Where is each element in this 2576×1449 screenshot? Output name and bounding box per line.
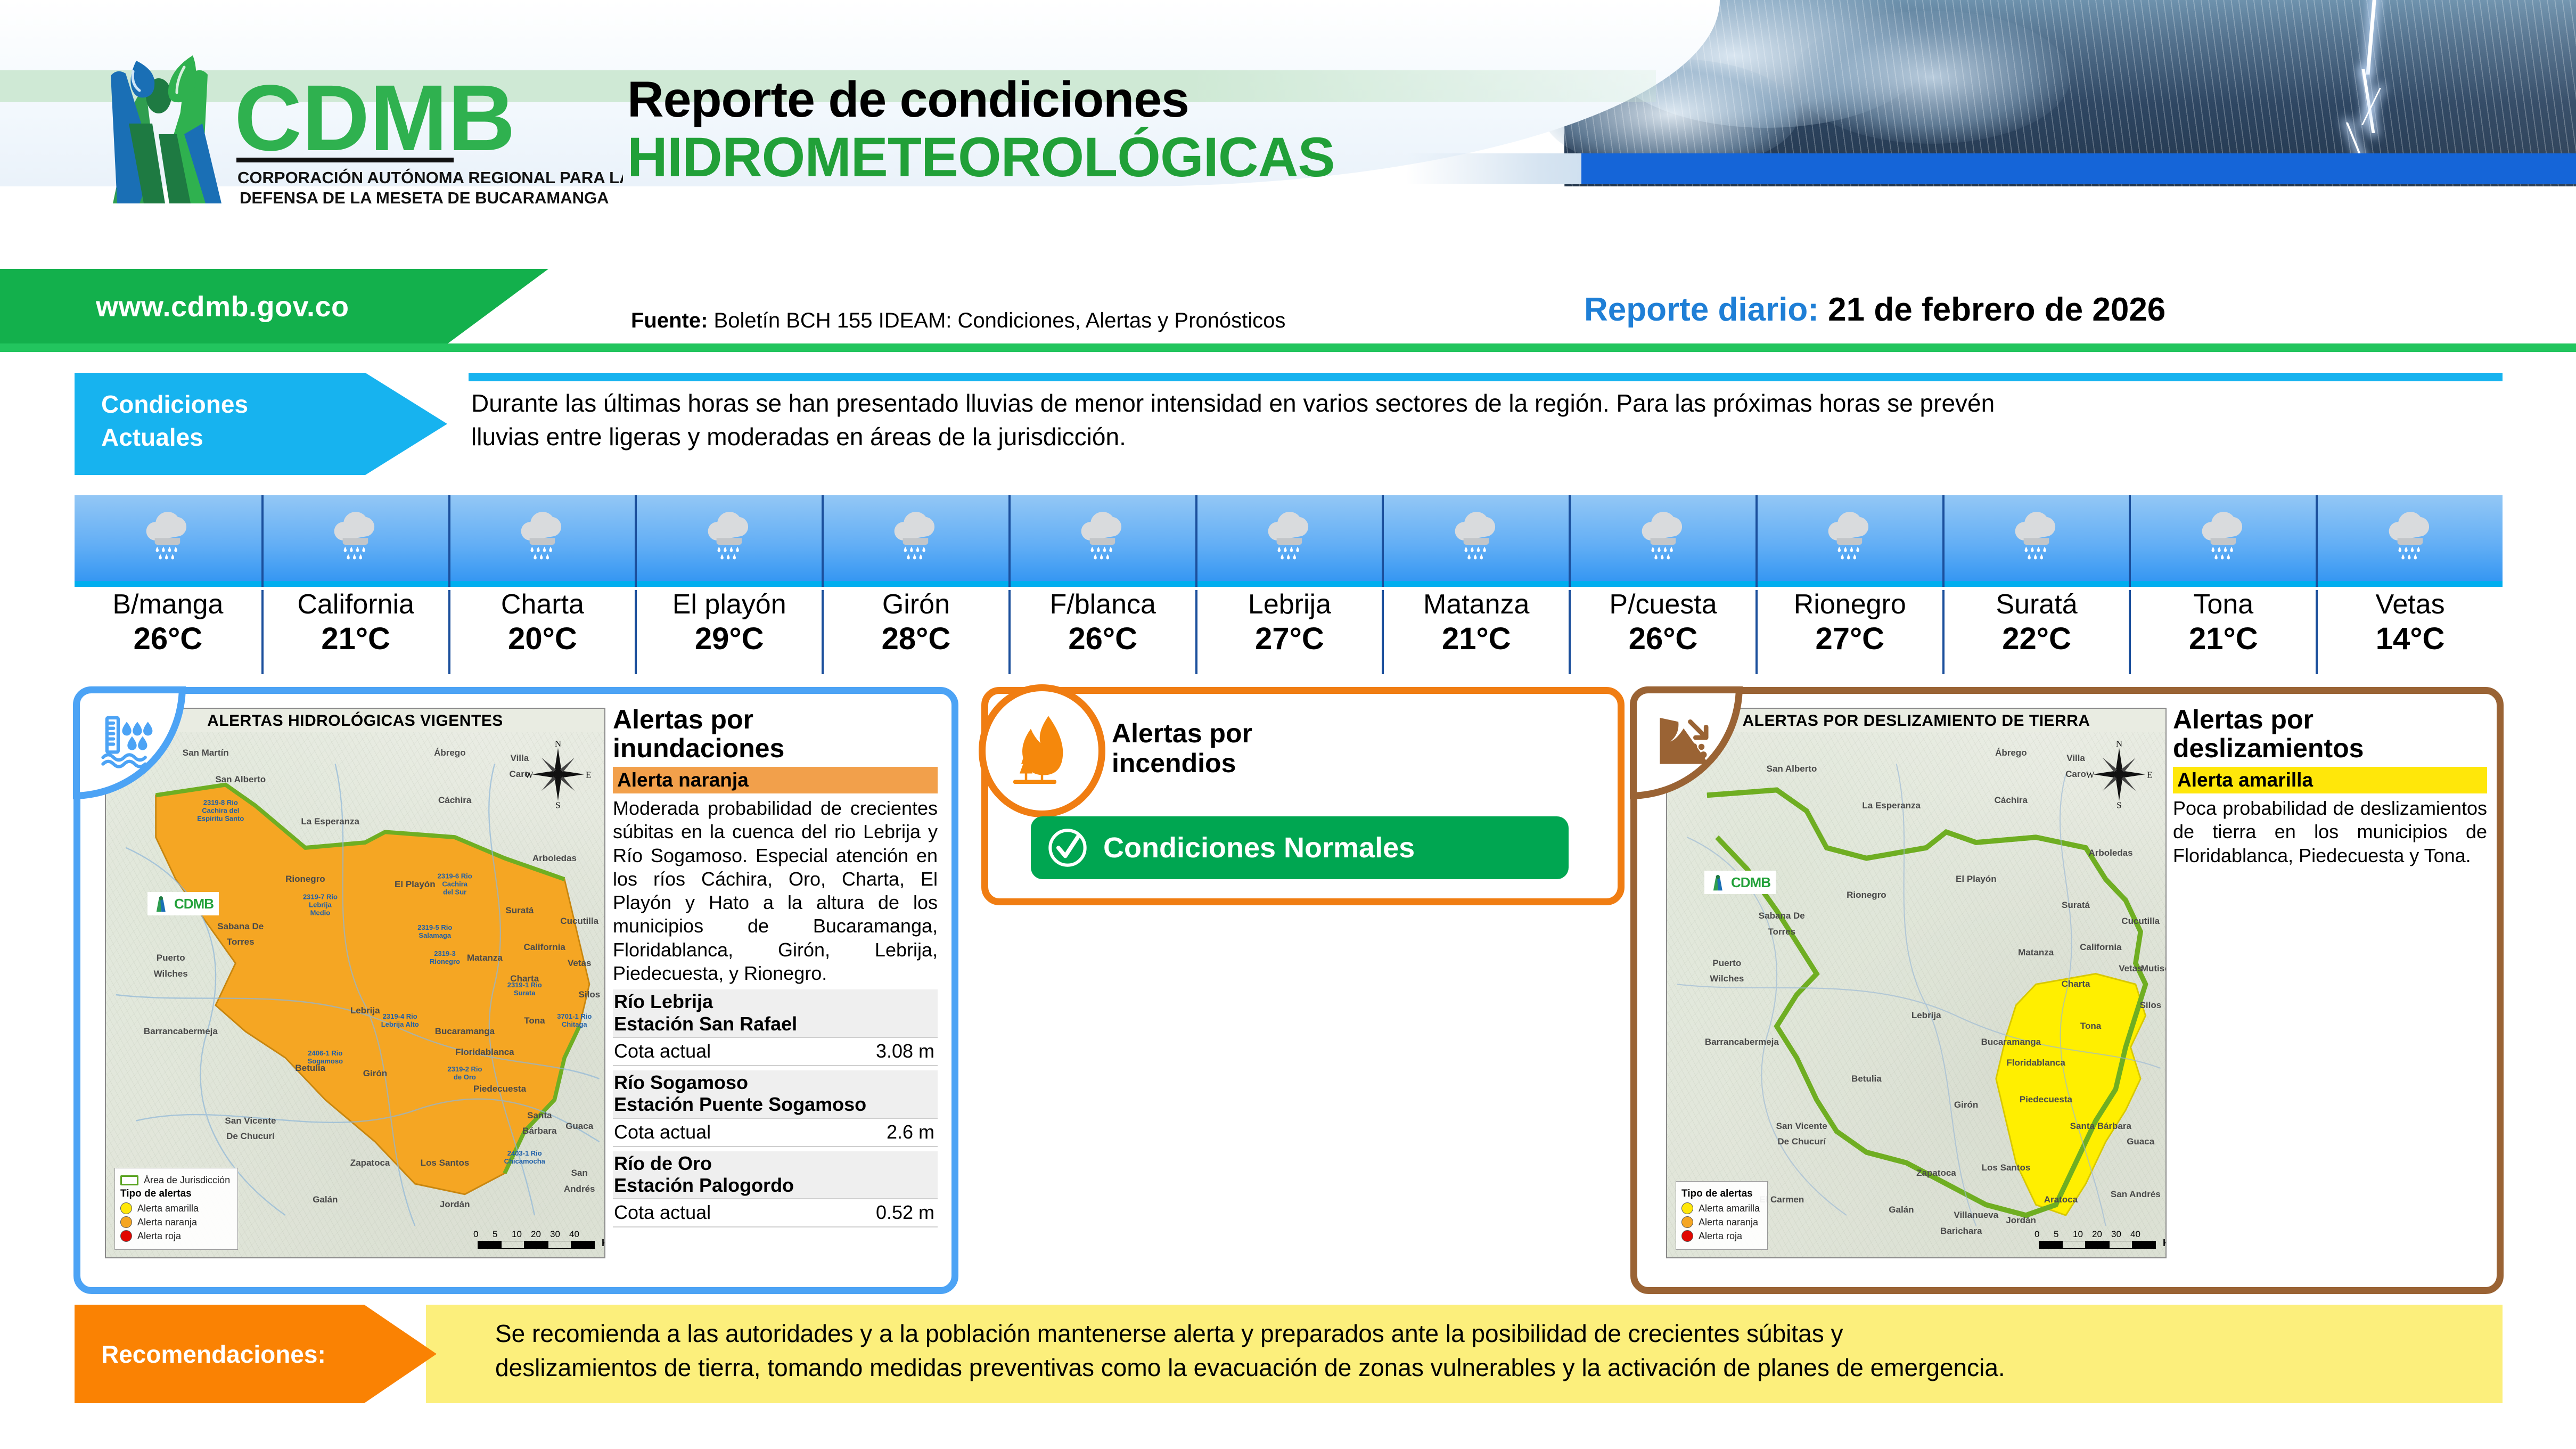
legend-item: Alerta roja xyxy=(120,1230,230,1242)
svg-text:S: S xyxy=(555,800,560,809)
weather-sky xyxy=(2316,495,2503,587)
legend-label: Alerta naranja xyxy=(1699,1217,1758,1228)
station-metric-label: Cota actual xyxy=(614,1201,711,1224)
station-row: Cota actual2.6 m xyxy=(613,1118,938,1147)
landslide-alert-chip: Alerta amarilla xyxy=(2173,767,2487,793)
weather-labels: Suratá22°C xyxy=(1942,590,2129,674)
landslide-heading-line1: Alertas por xyxy=(2173,706,2487,734)
station-metric-value: 0.52 m xyxy=(876,1201,934,1224)
map-town-label: Silos xyxy=(579,989,601,1000)
weather-sky xyxy=(1942,495,2129,587)
page-header: CDMB CORPORACIÓN AUTÓNOMA REGIONAL PARA … xyxy=(0,0,2576,269)
landslide-map-cdmb-watermark: CDMB xyxy=(1704,871,1776,894)
map-town-label: Guaca xyxy=(565,1121,593,1132)
weather-labels: Vetas14°C xyxy=(2316,590,2503,674)
jurisdiction-label: Área de Jurisdicción xyxy=(144,1175,230,1186)
rain-cloud-icon xyxy=(137,502,199,567)
map-town-label: Zapatoca xyxy=(350,1158,390,1168)
station-block: Río SogamosoEstación Puente SogamosoCota… xyxy=(613,1070,938,1147)
map-town-label: Guaca xyxy=(2127,1136,2154,1147)
weather-cell: Girón28°C xyxy=(822,495,1008,671)
weather-temp: 26°C xyxy=(1571,623,1755,656)
page-title: Reporte de condiciones HIDROMETEOROLÓGIC… xyxy=(627,75,1335,187)
alert-panels-row: ALERTAS HIDROLÓGICAS VIGENTES xyxy=(0,682,2576,1299)
landslide-heading-line2: deslizamientos xyxy=(2173,734,2487,763)
legend-item: Alerta roja xyxy=(1681,1230,1760,1242)
map-town-label: Puerto xyxy=(1712,958,1741,969)
map-town-label: Matanza xyxy=(467,953,503,963)
weather-labels: Matanza21°C xyxy=(1382,590,1569,674)
current-conditions-text: Durante las últimas horas se han present… xyxy=(471,387,2500,454)
landslide-map-title: ALERTAS POR DESLIZAMIENTO DE TIERRA xyxy=(1667,712,2165,730)
map-basin-code-label: 2319-8 RioCachira delEspiritu Santo xyxy=(197,799,244,823)
map-town-label: Girón xyxy=(363,1068,387,1079)
svg-text:E: E xyxy=(586,770,591,780)
logo-subtitle-line1: CORPORACIÓN AUTÓNOMA REGIONAL PARA LA xyxy=(237,168,623,187)
map-town-label: Tona xyxy=(524,1016,545,1026)
map-town-label: Barrancabermeja xyxy=(144,1026,218,1037)
fire-heading-line1: Alertas por xyxy=(1112,718,1252,748)
svg-text:W: W xyxy=(525,770,534,780)
weather-city: Tona xyxy=(2131,590,2316,619)
map-town-label: Mutiscua xyxy=(2141,963,2165,974)
weather-cell: Rionegro27°C xyxy=(1755,495,1942,671)
map-town-label: Betulia xyxy=(1851,1074,1882,1084)
legend-item: Alerta naranja xyxy=(120,1216,230,1228)
flood-legend-title: Tipo de alertas xyxy=(120,1188,230,1200)
legend-item: Alerta naranja xyxy=(1681,1216,1760,1228)
legend-swatch xyxy=(1681,1230,1693,1242)
map-town-label: California xyxy=(523,942,565,953)
map-town-label: Ábrego xyxy=(1995,748,2027,758)
map-town-label: Arboledas xyxy=(532,853,577,864)
weather-temp: 26°C xyxy=(1011,623,1195,656)
weather-cell: F/blanca26°C xyxy=(1008,495,1195,671)
flood-heading-line2: inundaciones xyxy=(613,734,938,763)
landslide-alerts-map[interactable]: ALERTAS POR DESLIZAMIENTO DE TIERRA xyxy=(1666,708,2167,1258)
weather-cell: El playón29°C xyxy=(635,495,822,671)
rain-cloud-icon xyxy=(1819,502,1881,564)
rain-cloud-icon xyxy=(512,502,573,564)
map-town-label: Zapatoca xyxy=(1916,1168,1956,1178)
rain-cloud-icon xyxy=(512,502,573,567)
weather-cell: Suratá22°C xyxy=(1942,495,2129,671)
station-name: Estación Puente Sogamoso xyxy=(614,1093,937,1115)
weather-labels: Tona21°C xyxy=(2129,590,2316,674)
report-date-line: Reporte diario: 21 de febrero de 2026 xyxy=(1584,291,2165,329)
map-town-label: Torres xyxy=(1768,927,1795,937)
map-town-label: Sabana De xyxy=(217,921,264,932)
weather-temp: 26°C xyxy=(75,623,261,656)
recommendations-section: Recomendaciones: Se recomienda a las aut… xyxy=(75,1305,2503,1403)
station-metric-label: Cota actual xyxy=(614,1040,711,1062)
rain-cloud-icon xyxy=(325,502,387,567)
weather-labels: Rionegro27°C xyxy=(1755,590,1942,674)
weather-temp: 27°C xyxy=(1197,623,1382,656)
weather-temp: 21°C xyxy=(1384,623,1569,656)
map-town-label: Cáchira xyxy=(438,795,471,806)
map-town-label: Lebrija xyxy=(350,1005,380,1016)
map-town-label: Wilches xyxy=(154,969,188,979)
fire-status-label: Condiciones Normales xyxy=(1103,831,1415,864)
map-town-label: Santa Bárbara xyxy=(2070,1121,2131,1132)
map-town-label: Floridablanca xyxy=(2006,1058,2065,1068)
map-town-label: Cáchira xyxy=(1995,795,2028,806)
map-town-label: Girón xyxy=(1954,1100,1978,1110)
weather-sky xyxy=(1755,495,1942,587)
map-town-label: Bárbara xyxy=(522,1126,556,1136)
recommendations-tab: Recomendaciones: xyxy=(75,1305,437,1403)
map-town-label: San Vicente xyxy=(1776,1121,1827,1132)
map-town-label: De Chucurí xyxy=(1777,1136,1826,1147)
legend-swatch xyxy=(1681,1216,1693,1228)
landslide-map-scale: 0510203040 Km xyxy=(2039,1229,2156,1249)
weather-city: B/manga xyxy=(75,590,261,619)
weather-cell: Charta20°C xyxy=(448,495,635,671)
weather-temp: 28°C xyxy=(824,623,1008,656)
legend-swatch xyxy=(1681,1202,1693,1214)
map-town-label: Floridablanca xyxy=(455,1047,514,1058)
svg-text:N: N xyxy=(2116,740,2122,749)
map-town-label: Rionegro xyxy=(285,874,325,885)
map-basin-code-label: 2319-1 RioSurata xyxy=(507,981,542,997)
weather-labels: El playón29°C xyxy=(635,590,822,674)
station-header: Río de OroEstación Palogordo xyxy=(613,1151,938,1199)
weather-sky xyxy=(1008,495,1195,587)
landslide-alerts-panel: ALERTAS POR DESLIZAMIENTO DE TIERRA xyxy=(1630,687,2504,1294)
map-basin-code-label: 2406-1 RioSogamoso xyxy=(308,1050,343,1066)
legend-label: Alerta roja xyxy=(1699,1231,1742,1242)
weather-labels: Charta20°C xyxy=(448,590,635,674)
rain-cloud-icon xyxy=(137,502,199,564)
check-circle-icon xyxy=(1045,825,1090,871)
weather-temp: 21°C xyxy=(2131,623,2316,656)
rain-cloud-icon xyxy=(1446,502,1507,564)
map-town-label: Villanueva xyxy=(1954,1210,1998,1221)
weather-sky xyxy=(261,495,448,587)
website-bar: www.cdmb.gov.co xyxy=(0,269,2576,354)
station-metric-value: 3.08 m xyxy=(876,1040,934,1062)
map-town-label: Suratá xyxy=(2062,900,2090,911)
current-conditions-line2: lluvias entre ligeras y moderadas en áre… xyxy=(471,420,2500,454)
legend-swatch xyxy=(120,1230,132,1242)
rain-cloud-icon xyxy=(699,502,760,564)
map-town-label: Barrancabermeja xyxy=(1705,1037,1779,1047)
map-basin-code-label: 2319-3Rionegro xyxy=(430,950,460,966)
station-metric-label: Cota actual xyxy=(614,1121,711,1143)
legend-label: Alerta roja xyxy=(137,1231,181,1242)
weather-sky xyxy=(822,495,1008,587)
weather-city: Lebrija xyxy=(1197,590,1382,619)
weather-city: California xyxy=(264,590,448,619)
rain-cloud-icon xyxy=(1072,502,1134,567)
fire-heading-line2: incendios xyxy=(1112,748,1252,778)
map-town-label: Los Santos xyxy=(1982,1163,2031,1173)
map-basin-code-label: 3701-1 RioChitaga xyxy=(557,1013,592,1029)
legend-item: Alerta amarilla xyxy=(120,1202,230,1214)
forest-fire-icon xyxy=(1002,710,1082,792)
weather-cell: Vetas14°C xyxy=(2316,495,2503,671)
flood-text-block: Alertas por inundaciones Alerta naranja … xyxy=(613,706,938,1227)
landslide-legend-title: Tipo de alertas xyxy=(1681,1188,1760,1200)
current-conditions-tab-line1: Condiciones xyxy=(101,388,447,421)
weather-strip: B/manga26°C California21°C Charta20°C xyxy=(75,495,2503,671)
station-name: Estación San Rafael xyxy=(614,1013,937,1035)
weather-city: P/cuesta xyxy=(1571,590,1755,619)
weather-sky xyxy=(448,495,635,587)
map-town-label: San xyxy=(571,1168,588,1178)
weather-temp: 20°C xyxy=(450,623,635,656)
weather-city: Vetas xyxy=(2318,590,2503,619)
map-basin-code-label: 2319-4 RioLebrija Alto xyxy=(381,1013,419,1029)
map-town-label: La Esperanza xyxy=(301,816,359,827)
rain-cloud-icon xyxy=(2380,502,2441,567)
fire-status-badge: Condiciones Normales xyxy=(1031,816,1569,879)
station-river: Río de Oro xyxy=(614,1152,937,1174)
report-date-label: Reporte diario: xyxy=(1584,291,1828,328)
weather-labels: Lebrija27°C xyxy=(1195,590,1382,674)
weather-city: Suratá xyxy=(1945,590,2129,619)
weather-sky xyxy=(635,495,822,587)
map-town-label: Villa xyxy=(2066,753,2085,764)
map-town-label: Rionegro xyxy=(1847,890,1886,900)
source-line: Fuente: Boletín BCH 155 IDEAM: Condicion… xyxy=(631,309,1285,333)
flood-map-compass-icon: N S W E xyxy=(523,740,593,809)
recommendations-line1: Se recomienda a las autoridades y a la p… xyxy=(495,1316,2529,1350)
rain-cloud-icon xyxy=(1446,502,1507,567)
weather-labels: P/cuesta26°C xyxy=(1569,590,1755,674)
fire-alerts-panel: Alertas por incendios Condiciones Normal… xyxy=(981,687,1625,905)
map-town-label: La Esperanza xyxy=(1862,800,1921,811)
weather-cell: Tona21°C xyxy=(2129,495,2316,671)
map-town-label: Puerto xyxy=(157,953,185,963)
website-url[interactable]: www.cdmb.gov.co xyxy=(96,290,349,323)
weather-cell: Matanza21°C xyxy=(1382,495,1569,671)
current-conditions-tab: Condiciones Actuales xyxy=(75,373,447,475)
map-town-label: Piedecuesta xyxy=(473,1084,526,1094)
rain-cloud-icon xyxy=(1632,502,1694,564)
map-town-label: Los Santos xyxy=(421,1158,470,1168)
svg-text:E: E xyxy=(2147,770,2152,780)
legend-swatch xyxy=(120,1216,132,1228)
weather-labels: F/blanca26°C xyxy=(1008,590,1195,674)
map-town-label: Tona xyxy=(2080,1021,2101,1032)
map-town-label: De Chucurí xyxy=(226,1131,275,1142)
map-town-label: San Vicente xyxy=(225,1116,276,1126)
map-town-label: Jordán xyxy=(2006,1215,2036,1226)
map-town-label: Barichara xyxy=(1940,1226,1982,1237)
flood-description: Moderada probabilidad de crecientes súbi… xyxy=(613,797,938,985)
weather-city: El playón xyxy=(637,590,822,619)
flood-alerts-map[interactable]: ALERTAS HIDROLÓGICAS VIGENTES xyxy=(105,708,605,1258)
rain-cloud-icon xyxy=(1632,502,1694,567)
jurisdiction-swatch xyxy=(120,1175,138,1185)
weather-temp: 21°C xyxy=(264,623,448,656)
map-town-label: Caro xyxy=(2065,769,2086,780)
map-town-label: Torres xyxy=(227,937,255,947)
map-basin-code-label: 2319-5 RioSalamaga xyxy=(417,924,452,940)
legend-label: Alerta naranja xyxy=(137,1217,197,1228)
current-conditions-line1: Durante las últimas horas se han present… xyxy=(471,387,2500,420)
map-town-label: Suratá xyxy=(505,905,534,916)
station-row: Cota actual0.52 m xyxy=(613,1198,938,1227)
recommendations-tab-label: Recomendaciones: xyxy=(75,1340,326,1369)
map-town-label: Piedecuesta xyxy=(2020,1094,2072,1105)
flood-map-title: ALERTAS HIDROLÓGICAS VIGENTES xyxy=(106,712,604,730)
weather-sky xyxy=(1195,495,1382,587)
weather-temp: 14°C xyxy=(2318,623,2503,656)
map-town-label: Lebrija xyxy=(1912,1010,1941,1021)
svg-text:N: N xyxy=(555,740,561,749)
rain-cloud-icon xyxy=(2006,502,2068,564)
rain-cloud-icon xyxy=(2380,502,2441,564)
map-town-label: Galán xyxy=(1889,1205,1914,1215)
map-town-label: Charta xyxy=(2062,979,2090,989)
map-town-label: California xyxy=(2080,942,2121,953)
cdmb-logo: CDMB CORPORACIÓN AUTÓNOMA REGIONAL PARA … xyxy=(80,44,623,214)
fire-badge xyxy=(979,684,1105,817)
map-town-label: Jordán xyxy=(440,1199,470,1210)
weather-cell: Lebrija27°C xyxy=(1195,495,1382,671)
map-town-label: Galán xyxy=(313,1194,338,1205)
weather-temp: 27°C xyxy=(1758,623,1942,656)
map-town-label: Matanza xyxy=(2018,947,2054,958)
legend-item: Alerta amarilla xyxy=(1681,1202,1760,1214)
map-town-label: Arboledas xyxy=(2088,848,2132,858)
map-town-label: Sabana De xyxy=(1759,911,1805,921)
map-basin-code-label: 2403-1 RioChicamocha xyxy=(504,1150,545,1166)
weather-labels: B/manga26°C xyxy=(75,590,261,674)
weather-city: Matanza xyxy=(1384,590,1569,619)
scale-tick-label: 40 xyxy=(569,1229,593,1240)
rain-cloud-icon xyxy=(2006,502,2068,567)
station-river: Río Lebrija xyxy=(614,990,937,1012)
title-line-2: HIDROMETEOROLÓGICAS xyxy=(627,128,1335,187)
weather-sky xyxy=(1382,495,1569,587)
rain-cloud-icon xyxy=(2193,502,2254,567)
map-town-label: Bucaramanga xyxy=(435,1026,495,1037)
map-town-label: Cucutilla xyxy=(2121,916,2160,927)
current-conditions-section: Condiciones Actuales Durante las últimas… xyxy=(75,373,2503,475)
map-town-label: San Alberto xyxy=(1767,764,1817,774)
flood-map-scale: 0510203040 Km xyxy=(478,1229,595,1249)
map-town-label: Aratoca xyxy=(2044,1194,2078,1205)
flood-heading-line1: Alertas por xyxy=(613,706,938,734)
flood-alerts-panel: ALERTAS HIDROLÓGICAS VIGENTES xyxy=(73,687,958,1294)
scale-tick-label: 40 xyxy=(2130,1229,2154,1240)
station-name: Estación Palogordo xyxy=(614,1174,937,1196)
map-town-label: Andrés xyxy=(564,1184,595,1194)
map-town-label: Bucaramanga xyxy=(1981,1037,2041,1047)
flood-map-cdmb-watermark: CDMB xyxy=(147,892,219,915)
station-header: Río LebrijaEstación San Rafael xyxy=(613,989,938,1037)
recommendations-line2: deslizamientos de tierra, tomando medida… xyxy=(495,1350,2529,1385)
landslide-map-compass-icon: N S W E xyxy=(2085,740,2154,809)
fire-heading: Alertas por incendios xyxy=(1112,718,1252,778)
rain-cloud-icon xyxy=(325,502,387,564)
map-basin-code-label: 2319-6 RioCachiradel Sur xyxy=(438,873,472,897)
current-conditions-tab-line2: Actuales xyxy=(101,421,447,454)
report-date-value: 21 de febrero de 2026 xyxy=(1828,291,2165,328)
weather-cell: P/cuesta26°C xyxy=(1569,495,1755,671)
weather-temp: 22°C xyxy=(1945,623,2129,656)
station-river: Río Sogamoso xyxy=(614,1071,937,1093)
weather-city: F/blanca xyxy=(1011,590,1195,619)
logo-subtitle-line2: DEFENSA DE LA MESETA DE BUCARAMANGA xyxy=(240,189,609,207)
landslide-text-block: Alertas por deslizamientos Alerta amaril… xyxy=(2173,706,2487,867)
rain-cloud-icon xyxy=(1259,502,1320,567)
weather-city: Girón xyxy=(824,590,1008,619)
source-label: Fuente: xyxy=(631,309,708,332)
map-town-label: San Alberto xyxy=(215,774,266,785)
rain-cloud-icon xyxy=(1819,502,1881,567)
map-town-label: Santa xyxy=(527,1110,552,1121)
station-header: Río SogamosoEstación Puente Sogamoso xyxy=(613,1070,938,1118)
weather-cell: California21°C xyxy=(261,495,448,671)
map-town-label: Vetas xyxy=(2119,963,2142,974)
legend-swatch xyxy=(120,1202,132,1214)
map-town-label: Cucutilla xyxy=(560,916,598,927)
rain-cloud-icon xyxy=(2193,502,2254,564)
source-text: Boletín BCH 155 IDEAM: Condiciones, Aler… xyxy=(708,309,1285,332)
rain-cloud-icon xyxy=(885,502,947,567)
map-town-label: Vetas xyxy=(568,958,591,969)
map-town-label: San Andrés xyxy=(2111,1189,2161,1200)
legend-label: Alerta amarilla xyxy=(1699,1203,1760,1214)
weather-city: Charta xyxy=(450,590,635,619)
weather-sky xyxy=(1569,495,1755,587)
flood-alert-chip: Alerta naranja xyxy=(613,767,938,793)
weather-sky xyxy=(2129,495,2316,587)
report-page: CDMB CORPORACIÓN AUTÓNOMA REGIONAL PARA … xyxy=(0,0,2576,1449)
header-blue-band xyxy=(1581,153,2576,184)
map-town-label: Wilches xyxy=(1710,973,1744,984)
landslide-scale-unit: Km xyxy=(2163,1238,2165,1249)
rain-cloud-icon xyxy=(1259,502,1320,564)
weather-labels: Girón28°C xyxy=(822,590,1008,674)
map-town-label: Silos xyxy=(2140,1000,2162,1011)
legend-label: Alerta amarilla xyxy=(137,1203,199,1214)
weather-labels: California21°C xyxy=(261,590,448,674)
map-town-label: El Playón xyxy=(1956,874,1997,885)
landslide-description: Poca probabilidad de deslizamientos de t… xyxy=(2173,797,2487,867)
map-town-label: Ábrego xyxy=(434,748,466,758)
title-line-1: Reporte de condiciones xyxy=(627,75,1335,125)
recommendations-text: Se recomienda a las autoridades y a la p… xyxy=(495,1316,2529,1385)
map-basin-code-label: 2319-7 RioLebrijaMedio xyxy=(303,894,338,918)
rain-cloud-icon xyxy=(885,502,947,564)
station-metric-value: 2.6 m xyxy=(887,1121,934,1143)
landslide-map-legend: Tipo de alertas Alerta amarillaAlerta na… xyxy=(1676,1181,1768,1250)
station-block: Río LebrijaEstación San RafaelCota actua… xyxy=(613,989,938,1066)
lightning-icon xyxy=(2366,0,2374,170)
svg-text:W: W xyxy=(2086,770,2095,780)
flood-map-legend: Área de Jurisdicción Tipo de alertas Ale… xyxy=(114,1168,238,1250)
map-basin-code-label: 2319-2 Riode Oro xyxy=(447,1066,482,1082)
weather-temp: 29°C xyxy=(637,623,822,656)
svg-text:S: S xyxy=(2116,800,2121,809)
logo-acronym: CDMB xyxy=(234,66,515,170)
weather-cell: B/manga26°C xyxy=(75,495,261,671)
weather-city: Rionegro xyxy=(1758,590,1942,619)
station-row: Cota actual3.08 m xyxy=(613,1037,938,1066)
rain-cloud-icon xyxy=(1072,502,1134,564)
weather-sky xyxy=(75,495,261,587)
station-block: Río de OroEstación PalogordoCota actual0… xyxy=(613,1151,938,1228)
map-town-label: San Martín xyxy=(183,748,229,758)
map-town-label: El Playón xyxy=(395,879,436,890)
rain-cloud-icon xyxy=(699,502,760,567)
